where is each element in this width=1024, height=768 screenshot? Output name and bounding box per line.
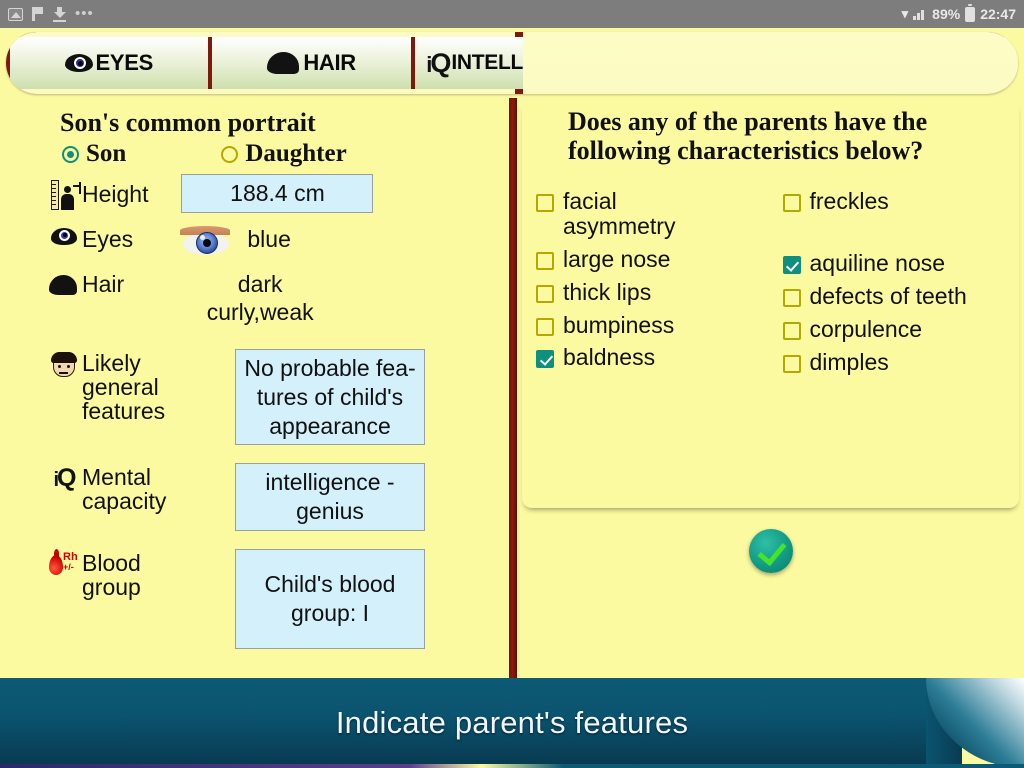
checkbox-facial-asymmetry[interactable]: facial asymmetry — [536, 189, 763, 239]
checkbox-large-nose[interactable]: large nose — [536, 247, 763, 272]
radio-son[interactable]: Son — [62, 140, 126, 168]
row-blood-group-label: Blood group — [82, 549, 202, 599]
download-icon — [53, 7, 66, 21]
checkbox-label: freckles — [810, 189, 889, 214]
row-hair: Hair dark curly,weak — [46, 270, 495, 328]
radio-daughter-dot — [221, 146, 238, 163]
checkbox-bumpiness[interactable]: bumpiness — [536, 313, 763, 338]
checkbox-box — [783, 194, 801, 212]
row-hair-label: Hair — [82, 270, 124, 296]
panel-divider — [509, 98, 517, 678]
hair-icon — [46, 270, 82, 296]
checkbox-box — [783, 289, 801, 307]
checkbox-label: thick lips — [563, 280, 651, 305]
checkbox-label: bumpiness — [563, 313, 674, 338]
height-ruler-icon — [46, 177, 82, 210]
radio-son-label: Son — [86, 140, 126, 168]
tab-eyes-label: EYES — [95, 52, 153, 74]
checkbox-label: large nose — [563, 247, 670, 272]
navigation-underline — [0, 764, 1024, 768]
status-bar-right: ▾ 89% 22:47 — [902, 6, 1016, 22]
row-mental-capacity-label: Mental capacity — [82, 463, 202, 513]
status-bar: ••• ▾ 89% 22:47 — [0, 0, 1024, 28]
tab-bar-area: EYES HAIR iQ INTELLIGENCE — [0, 28, 1024, 98]
characteristics-grid: facial asymmetry large nose thick lips — [522, 189, 1019, 382]
checkbox-label: corpulence — [810, 317, 923, 342]
content-area: Son's common portrait Son Daughter — [0, 98, 1024, 678]
checkbox-label: facial asymmetry — [563, 189, 703, 239]
eye-icon — [65, 54, 93, 72]
characteristics-column-2: freckles aquiline nose defects of teeth — [763, 189, 1010, 382]
checkbox-label: aquiline nose — [810, 251, 946, 276]
app-root: ••• ▾ 89% 22:47 EYES — [0, 0, 1024, 768]
checkbox-box — [536, 252, 554, 270]
signal-icon — [913, 8, 927, 20]
row-blood-group: Rh+/- Blood group Child's blood group: I — [46, 549, 495, 649]
tab-eyes[interactable]: EYES — [6, 37, 208, 89]
checkbox-thick-lips[interactable]: thick lips — [536, 280, 763, 305]
hair-value-label: dark curly,weak — [195, 270, 325, 328]
row-eyes-label: Eyes — [82, 225, 133, 251]
general-features-value-field: No probable fea-tures of child's appeara… — [235, 349, 425, 445]
hair-icon — [267, 50, 301, 76]
row-eyes: Eyes blue — [46, 225, 495, 254]
checkbox-label: defects of teeth — [810, 284, 967, 309]
checkbox-dimples[interactable]: dimples — [783, 350, 1010, 375]
tab-hair-label: HAIR — [303, 52, 356, 74]
tab-bar: EYES HAIR iQ INTELLIGENCE — [6, 32, 1018, 94]
checkbox-aquiline-nose[interactable]: aquiline nose — [783, 251, 1010, 276]
blood-group-value-field: Child's blood group: I — [235, 549, 425, 649]
eye-icon — [46, 225, 82, 245]
bottom-hint-bar: Indicate parent's features — [0, 678, 1024, 768]
row-general-features: Likely general features No probable fea-… — [46, 349, 495, 445]
iq-icon: iQ — [46, 463, 82, 491]
tab-bar-right-cap — [523, 32, 1018, 94]
tab-hair[interactable]: HAIR — [208, 37, 410, 89]
row-general-features-label: Likely general features — [82, 349, 202, 423]
checkbox-label: baldness — [563, 345, 655, 370]
row-height-label: Height — [82, 180, 148, 206]
clock-label: 22:47 — [980, 6, 1016, 22]
mental-capacity-value-field: intelligence - genius — [235, 463, 425, 531]
row-mental-capacity: iQ Mental capacity intelligence - genius — [46, 463, 495, 531]
checkbox-box — [783, 355, 801, 373]
blood-drop-icon: Rh+/- — [46, 549, 82, 580]
checkbox-box — [536, 285, 554, 303]
page-curl-decoration — [926, 678, 1024, 768]
height-value-field[interactable]: 188.4 cm — [181, 174, 373, 213]
bottom-hint-label: Indicate parent's features — [0, 678, 1024, 768]
flag-icon — [32, 7, 44, 21]
checkbox-box — [536, 194, 554, 212]
row-height: Height 188.4 cm — [46, 174, 495, 213]
check-confirm-icon[interactable] — [749, 529, 793, 573]
checkbox-box-checked — [536, 350, 554, 368]
checkbox-baldness[interactable]: baldness — [536, 345, 763, 370]
battery-percent-label: 89% — [932, 6, 960, 22]
wifi-icon: ▾ — [902, 6, 909, 22]
right-panel: Does any of the parents have the followi… — [517, 98, 1024, 678]
image-icon — [8, 8, 23, 21]
checkbox-freckles[interactable]: freckles — [783, 189, 1010, 214]
checkbox-corpulence[interactable]: corpulence — [783, 317, 1010, 342]
gender-radio-group: Son Daughter — [62, 140, 495, 168]
checkbox-box-checked — [783, 256, 801, 274]
iq-icon: iQ — [426, 50, 449, 77]
face-icon — [46, 349, 82, 378]
radio-daughter[interactable]: Daughter — [221, 140, 346, 168]
parent-question-title: Does any of the parents have the followi… — [568, 107, 1005, 165]
more-dots-icon: ••• — [75, 9, 94, 19]
checkbox-label: dimples — [810, 350, 889, 375]
left-panel: Son's common portrait Son Daughter — [0, 98, 509, 678]
checkbox-box — [536, 318, 554, 336]
radio-son-dot — [62, 146, 79, 163]
characteristics-column-1: facial asymmetry large nose thick lips — [536, 189, 763, 382]
radio-daughter-label: Daughter — [245, 140, 346, 168]
checkbox-box — [783, 322, 801, 340]
battery-icon — [965, 7, 975, 22]
page-title: Son's common portrait — [60, 108, 495, 138]
parent-characteristics-card: Does any of the parents have the followi… — [522, 103, 1019, 508]
checkbox-defects-of-teeth[interactable]: defects of teeth — [783, 284, 1010, 309]
status-bar-left: ••• — [8, 7, 94, 21]
